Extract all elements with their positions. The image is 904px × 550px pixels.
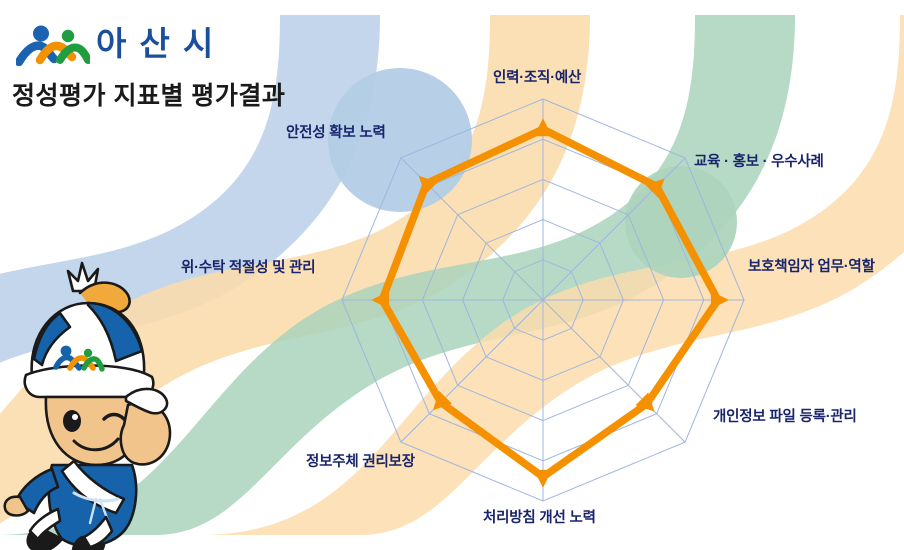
slide-canvas: 아 산 시 정성평가 지표별 평가결과 (0, 0, 904, 550)
axis-label-filereg: 개인정보 파일 등록·관리 (713, 405, 857, 426)
axis-label-education: 교육 · 홍보 · 우수사례 (694, 150, 824, 171)
radar-marker-6 (371, 291, 389, 309)
radar-marker-0 (534, 118, 552, 136)
axis-label-officer: 보호책임자 업무·역할 (748, 255, 875, 276)
axis-label-safety: 안전성 확보 노력 (286, 121, 386, 142)
radar-marker-4 (534, 470, 552, 488)
radar-marker-2 (711, 291, 729, 309)
radar-spoke-3 (543, 300, 685, 442)
axis-label-policy: 처리방침 개선 노력 (483, 506, 596, 527)
axis-label-consign: 위·수탁 적절성 및 관리 (181, 256, 315, 277)
axis-label-manpower: 인력·조직·예산 (493, 66, 581, 87)
axis-label-rights: 정보주체 권리보장 (306, 450, 415, 471)
radar-axis-spokes (342, 99, 744, 501)
